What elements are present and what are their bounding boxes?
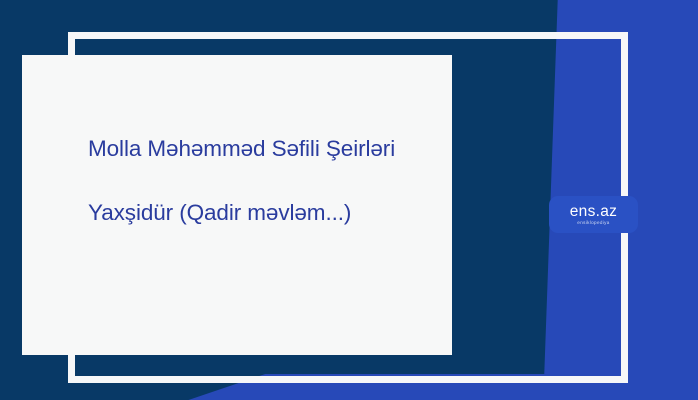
logo-wordmark: ens.az (570, 204, 617, 219)
page-title: Molla Məhəmməd Səfili Şeirləri (88, 133, 433, 165)
card-text-block: Molla Məhəmməd Səfili Şeirləri Yaxşidür … (88, 133, 433, 229)
poster-canvas: Molla Məhəmməd Səfili Şeirləri Yaxşidür … (0, 0, 698, 400)
logo-tagline: ensiklopediya (577, 220, 609, 226)
content-card: Molla Məhəmməd Səfili Şeirləri Yaxşidür … (22, 55, 452, 355)
ens-az-logo-badge: ens.az ensiklopediya (549, 196, 638, 233)
page-subtitle: Yaxşidür (Qadir məvləm...) (88, 165, 433, 229)
